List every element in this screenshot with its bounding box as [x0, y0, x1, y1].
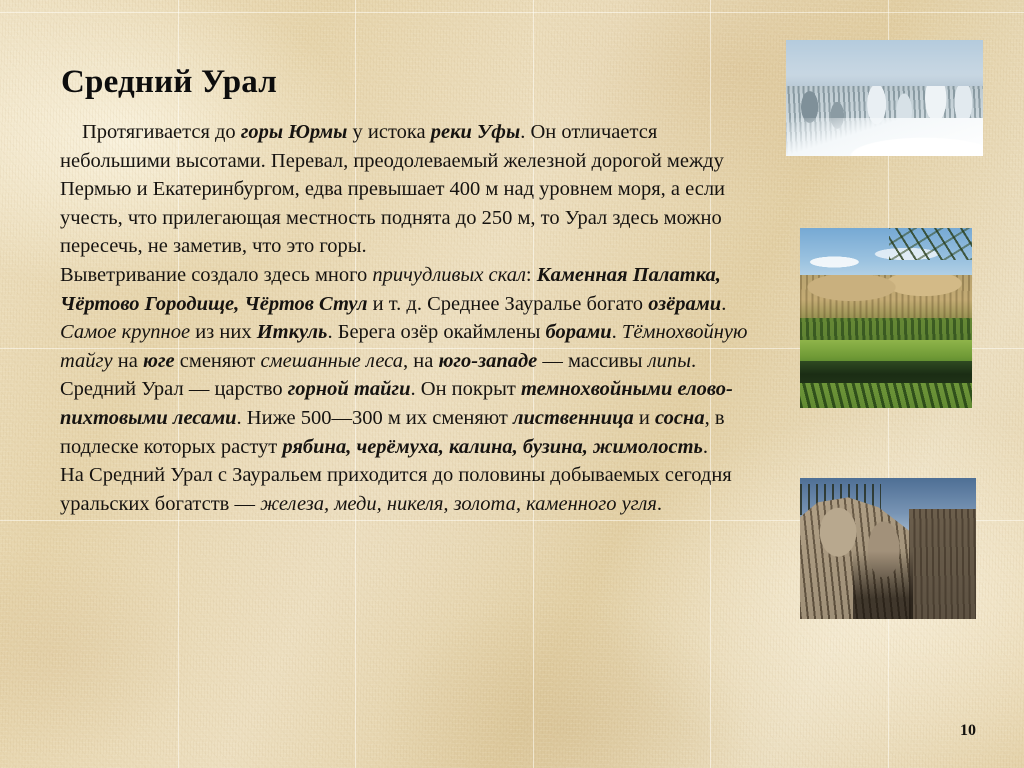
branch-layer — [889, 228, 972, 260]
emphasis-italic: железа, меди, никеля, золота, каменного … — [260, 493, 657, 515]
emphasis-strong: борами — [546, 321, 612, 343]
text-run: на — [113, 350, 143, 372]
emphasis-italic: Самое крупное — [60, 321, 190, 343]
text-run: . Ниже 500—300 м их сменяют — [237, 407, 513, 429]
text-run: Средний Урал — царство — [60, 378, 288, 400]
rock-outcrop-photo — [800, 478, 976, 619]
text-run: . — [691, 350, 696, 372]
text-run: . Он покрыт — [411, 378, 521, 400]
text-run: — массивы — [537, 350, 647, 372]
text-run: . — [721, 293, 726, 315]
winter-taiga-photo — [786, 40, 983, 156]
text-run: и т. д. Среднее Зауралье богато — [368, 293, 649, 315]
bare-trees-layer — [909, 509, 976, 619]
emphasis-strong: озёрами — [648, 293, 721, 315]
page-number: 10 — [960, 722, 976, 740]
text-run: Выветривание создало здесь много — [60, 264, 372, 286]
body-paragraph: Протягивается до горы Юрмы у истока реки… — [60, 118, 760, 261]
emphasis-strong: сосна — [655, 407, 705, 429]
text-run: и — [634, 407, 655, 429]
emphasis-strong: юго-западе — [438, 350, 537, 372]
river-valley-cliffs-photo — [800, 228, 972, 408]
body-paragraph: На Средний Урал с Зауральем приходится д… — [60, 461, 760, 518]
emphasis-strong: горной тайги — [288, 378, 411, 400]
text-run: . — [612, 321, 622, 343]
page-title: Средний Урал — [61, 64, 277, 101]
text-run: сменяют — [175, 350, 261, 372]
emphasis-strong: Иткуль — [257, 321, 328, 343]
body-paragraph: Средний Урал — царство горной тайги. Он … — [60, 375, 760, 461]
text-run: из них — [190, 321, 257, 343]
text-run: Протягивается до — [82, 121, 241, 143]
text-run: . — [657, 493, 662, 515]
emphasis-italic: липы — [648, 350, 691, 372]
emphasis-italic: смешанные леса — [260, 350, 403, 372]
rock-shadow-layer — [853, 551, 913, 619]
text-run: : — [526, 264, 537, 286]
text-run: у истока — [347, 121, 430, 143]
body-text: Протягивается до горы Юрмы у истока реки… — [60, 118, 760, 518]
snow-layer — [786, 118, 983, 156]
text-run: . — [703, 436, 708, 458]
emphasis-strong: реки Уфы — [431, 121, 520, 143]
emphasis-italic: причудливых скал — [372, 264, 526, 286]
grid-line-horizontal — [0, 12, 1024, 13]
slide-canvas: Средний Урал Протягивается до горы Юрмы … — [0, 0, 1024, 768]
emphasis-strong: юге — [143, 350, 175, 372]
emphasis-strong: лиственница — [513, 407, 634, 429]
emphasis-strong: рябина, черёмуха, калина, бузина, жимоло… — [282, 436, 703, 458]
emphasis-strong: горы Юрмы — [241, 121, 348, 143]
body-paragraph: Выветривание создало здесь много причудл… — [60, 261, 760, 375]
text-run: , на — [403, 350, 438, 372]
foreground-layer — [800, 383, 972, 408]
text-run: . Берега озёр окаймлены — [327, 321, 545, 343]
